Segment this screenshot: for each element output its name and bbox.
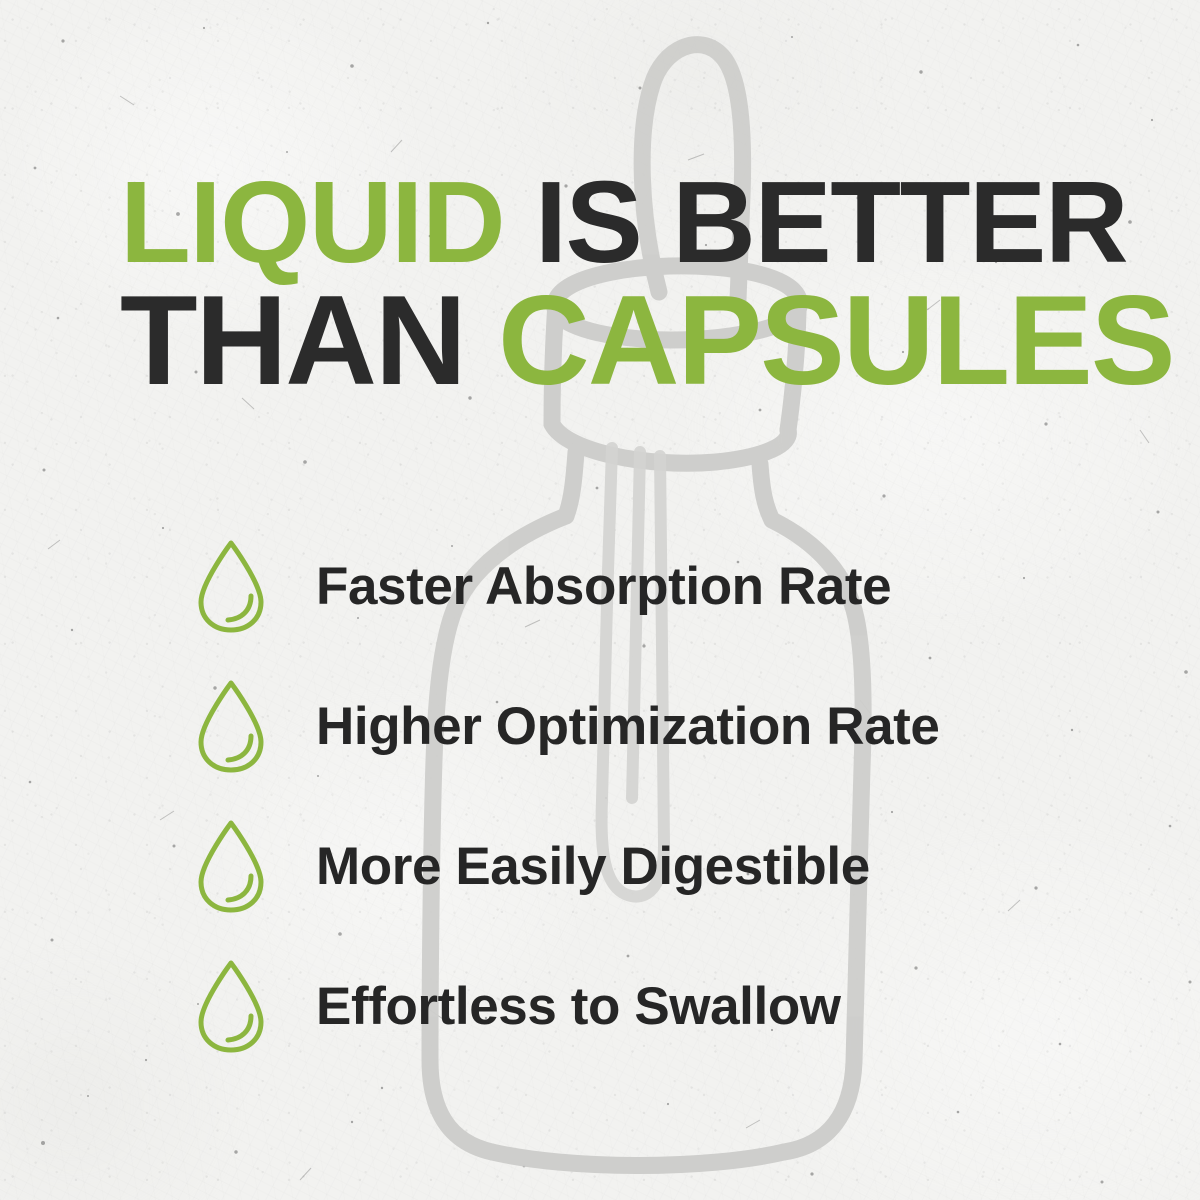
benefit-item-4: Effortless to Swallow (196, 936, 1156, 1076)
headline-word-than: THAN (120, 269, 465, 411)
headline-word-is-better: IS BETTER (504, 157, 1127, 287)
droplet-icon (196, 539, 266, 633)
droplet-icon (196, 959, 266, 1053)
headline-line-2: THAN CAPSULES (120, 281, 1120, 400)
headline-word-liquid: LIQUID (120, 157, 504, 287)
headline-word-capsules: CAPSULES (465, 269, 1174, 411)
droplet-icon (196, 679, 266, 773)
droplet-icon (196, 819, 266, 913)
headline: LIQUID IS BETTER THAN CAPSULES (120, 168, 1120, 400)
benefit-label: Effortless to Swallow (316, 976, 841, 1037)
benefit-item-1: Faster Absorption Rate (196, 516, 1156, 656)
benefit-item-3: More Easily Digestible (196, 796, 1156, 936)
benefits-list: Faster Absorption Rate Higher Optimizati… (196, 516, 1156, 1076)
benefit-label: More Easily Digestible (316, 836, 870, 897)
benefit-label: Higher Optimization Rate (316, 696, 940, 757)
benefit-item-2: Higher Optimization Rate (196, 656, 1156, 796)
liquid-vs-capsules-poster: LIQUID IS BETTER THAN CAPSULES Faster Ab… (0, 0, 1200, 1200)
benefit-label: Faster Absorption Rate (316, 556, 891, 617)
headline-line-1: LIQUID IS BETTER (120, 168, 1120, 277)
